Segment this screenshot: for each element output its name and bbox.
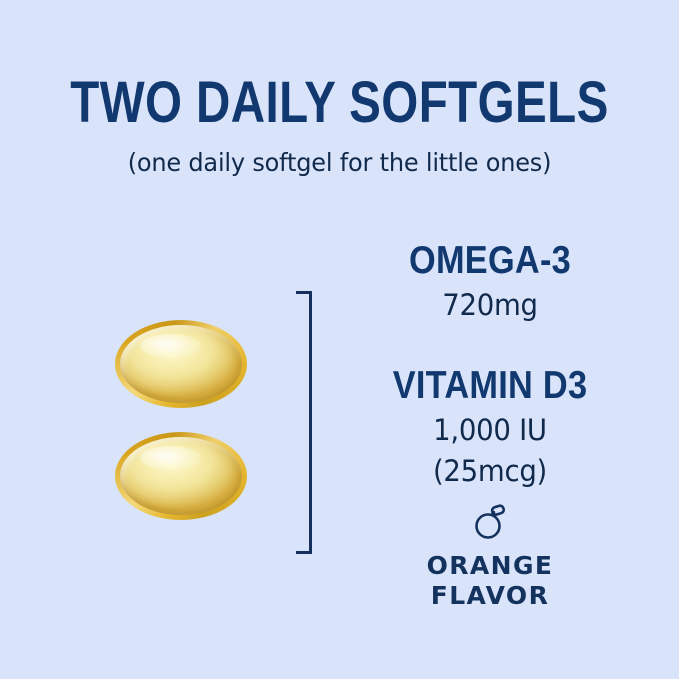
- softgel-capsule-icon: [120, 437, 242, 515]
- softgel-capsule-icon: [120, 325, 242, 403]
- page-title: TWO DAILY SOFTGELS: [61, 72, 618, 134]
- nutrient-amount: 1,000 IU: [348, 413, 633, 448]
- bracket-icon: [296, 291, 312, 554]
- softgel-capsule-group: [120, 325, 250, 549]
- softgel-capsule-1: [120, 325, 250, 403]
- nutrient-fact-vitamin-d3: VITAMIN D3 1,000 IU (25mcg): [340, 365, 640, 489]
- flavor-block: ORANGE FLAVOR: [340, 503, 640, 611]
- nutrient-amount-secondary: (25mcg): [348, 454, 633, 489]
- page-subtitle: (one daily softgel for the little ones): [14, 148, 666, 178]
- softgel-infographic: TWO DAILY SOFTGELS (one daily softgel fo…: [0, 0, 679, 679]
- orange-fruit-icon: [473, 503, 507, 539]
- nutrient-fact-omega-3: OMEGA-3 720mg: [340, 240, 640, 323]
- flavor-label-line1: ORANGE: [340, 551, 640, 581]
- softgel-capsule-2: [120, 437, 250, 515]
- flavor-label-line2: FLAVOR: [340, 581, 640, 611]
- nutrient-amount: 720mg: [348, 288, 633, 323]
- nutrient-facts-list: OMEGA-3 720mg VITAMIN D3 1,000 IU (25mcg…: [340, 240, 640, 489]
- nutrient-name: VITAMIN D3: [358, 365, 622, 407]
- header-block: TWO DAILY SOFTGELS (one daily softgel fo…: [0, 72, 679, 178]
- nutrient-name: OMEGA-3: [358, 240, 622, 282]
